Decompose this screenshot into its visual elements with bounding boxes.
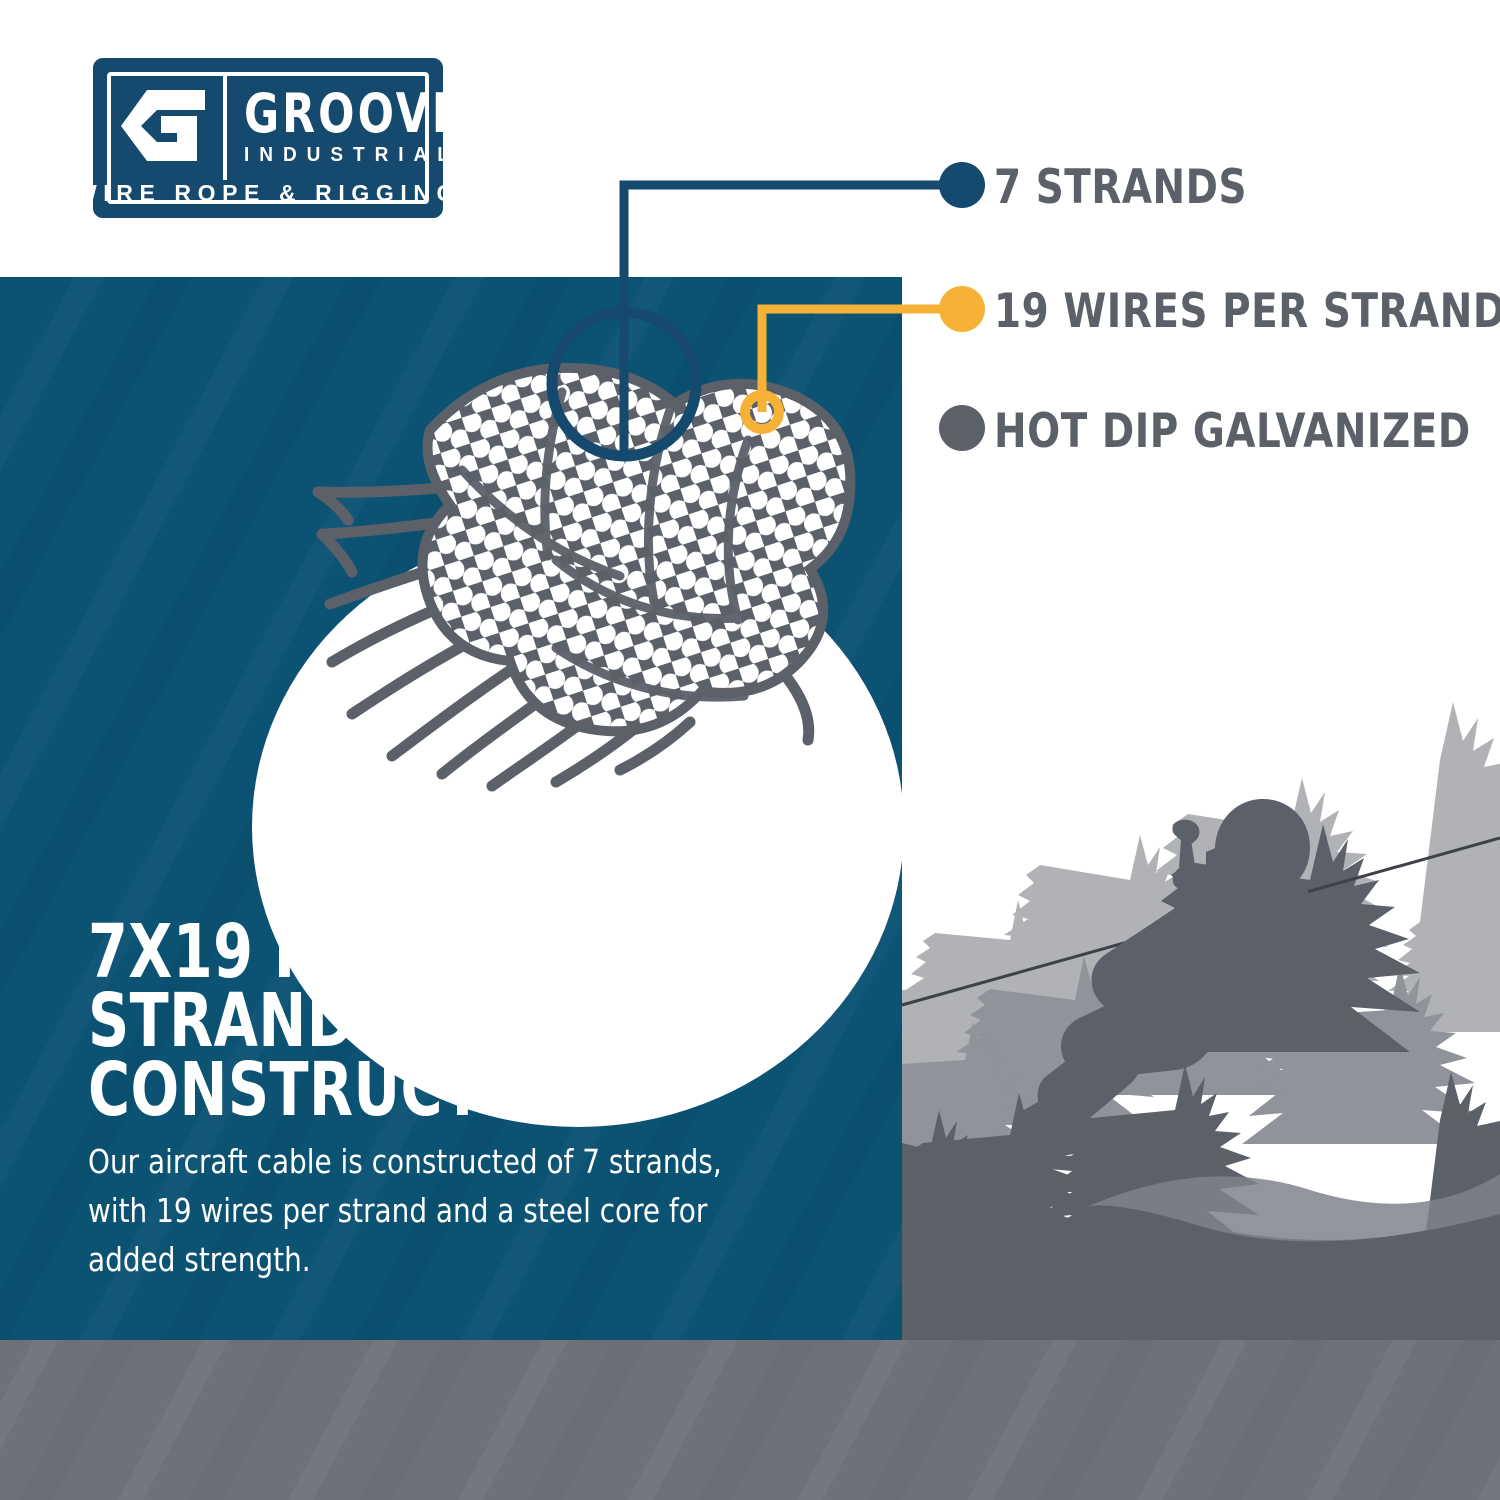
zipline-cable <box>902 838 1500 1005</box>
logo-top-row: GROOVE INDUSTRIAL <box>111 76 425 180</box>
brand-logo[interactable]: GROOVE INDUSTRIAL WIRE ROPE & RIGGING <box>93 58 443 218</box>
forest-ridge <box>1080 1174 1500 1241</box>
logo-tagline-row: WIRE ROPE & RIGGING <box>111 180 425 207</box>
logo-inner-border: GROOVE INDUSTRIAL WIRE ROPE & RIGGING <box>107 72 429 204</box>
rider-harness-line <box>1169 884 1186 998</box>
forest-back-layer <box>883 702 1500 1067</box>
callout-dot-wires <box>939 286 985 332</box>
zipline-rider-silhouette <box>1012 799 1315 1162</box>
bottom-band <box>0 1340 1500 1500</box>
logo-wordmark: GROOVE INDUSTRIAL <box>227 76 494 180</box>
callout-dot-strands <box>939 162 985 208</box>
headline-line-1: 7X19 FLEXIBLE <box>88 918 776 987</box>
band-stripe-texture <box>0 1340 1500 1500</box>
logo-brand-name: GROOVE <box>244 89 464 139</box>
page-title: 7X19 FLEXIBLE STRAND CONSTRUCTION <box>88 918 776 1124</box>
body-copy: Our aircraft cable is constructed of 7 s… <box>88 1138 737 1284</box>
logo-frame: GROOVE INDUSTRIAL WIRE ROPE & RIGGING <box>93 58 443 218</box>
headline-line-2: STRAND CONSTRUCTION <box>88 987 776 1125</box>
forest-scene <box>847 600 1500 1340</box>
callout-label-galvanized: HOT DIP GALVANIZED <box>994 404 1471 459</box>
infographic-canvas: GROOVE INDUSTRIAL WIRE ROPE & RIGGING 7 … <box>0 0 1500 1500</box>
forest-mid-layer <box>847 900 1475 1170</box>
callout-dot-galvanized <box>939 405 985 451</box>
groove-g-monogram-icon <box>111 76 227 180</box>
callout-label-strands: 7 STRANDS <box>994 160 1247 215</box>
logo-tagline: WIRE ROPE & RIGGING <box>75 180 461 207</box>
callout-label-wires: 19 WIRES PER STRAND <box>994 284 1500 339</box>
logo-brand-sub: INDUSTRIAL <box>244 144 482 167</box>
forest-front-layer <box>878 824 1500 1340</box>
